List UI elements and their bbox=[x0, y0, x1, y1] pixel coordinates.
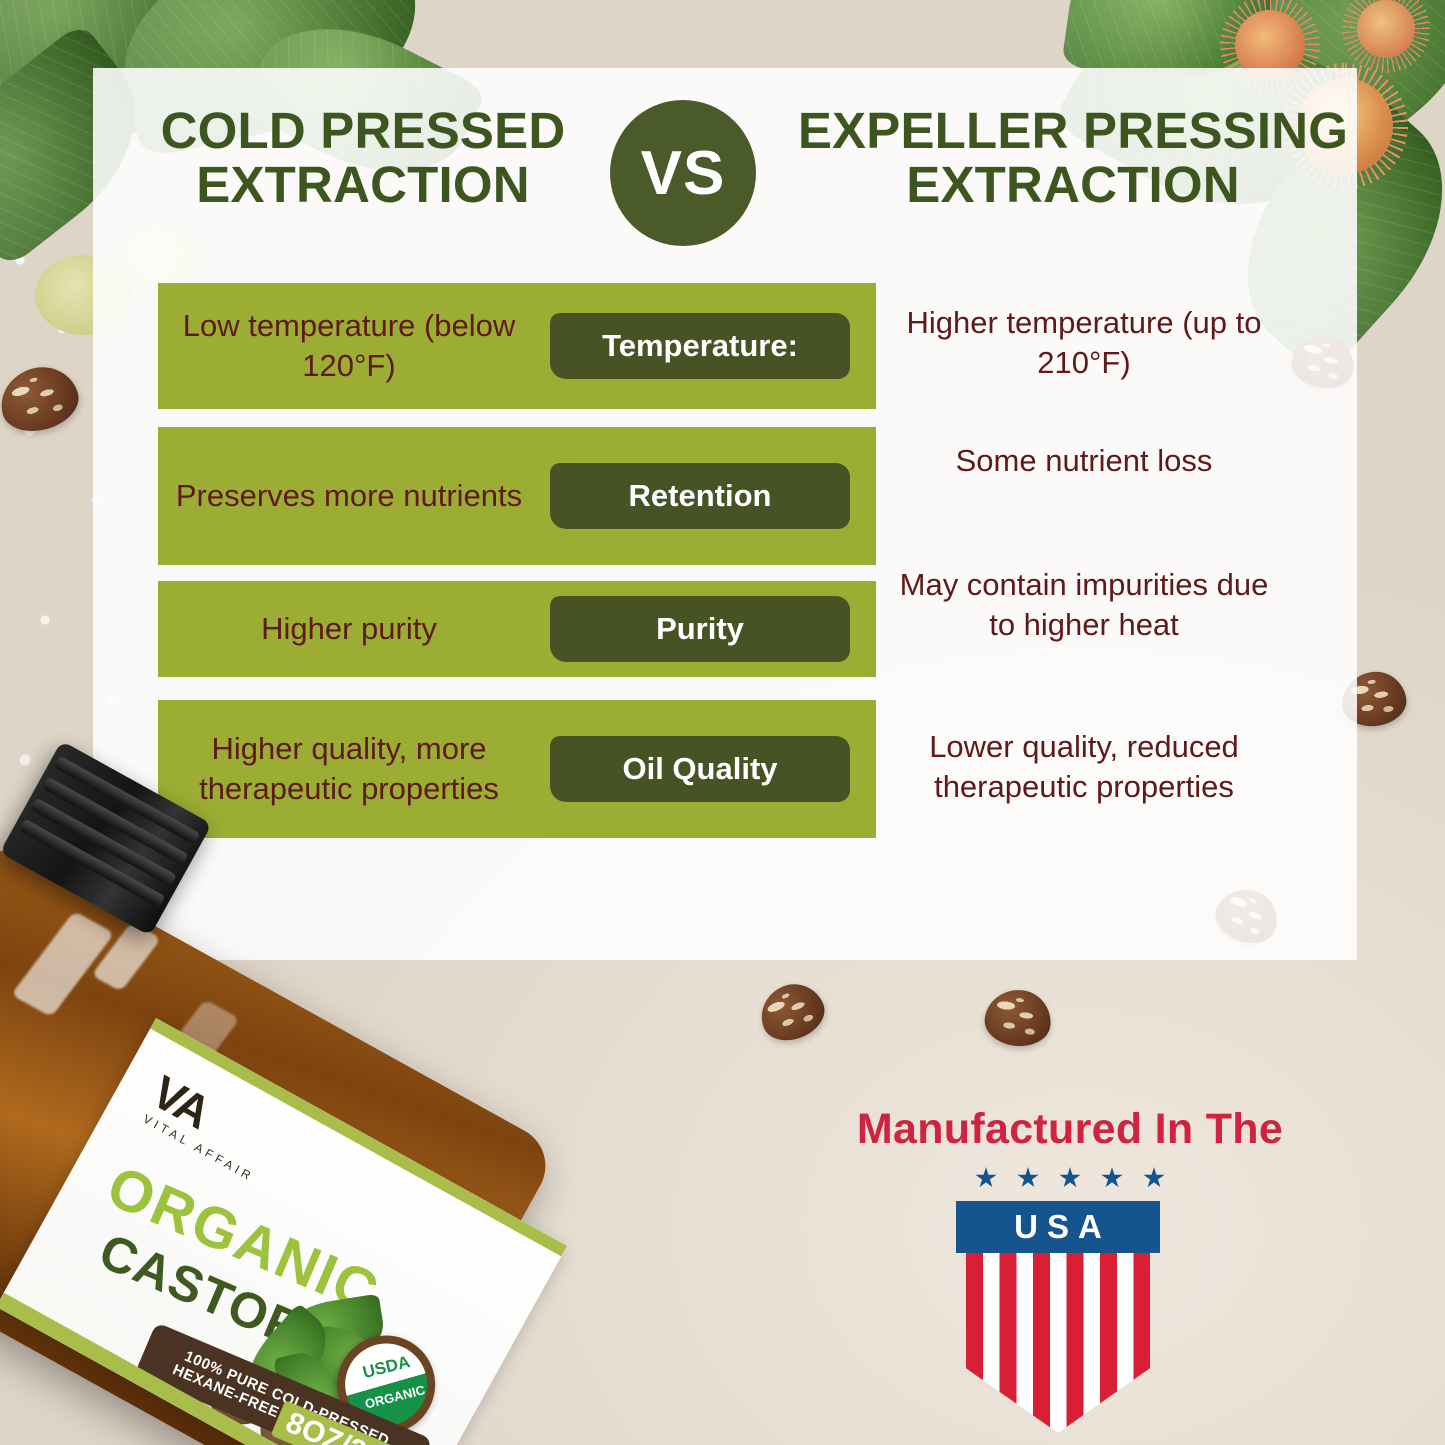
usda-seal-top-text: USDA bbox=[361, 1352, 413, 1383]
attribute-label-retention: Retention bbox=[550, 463, 850, 529]
star-icon bbox=[1017, 1167, 1039, 1189]
cold-pressed-cell: Low temperature (below 120°F) bbox=[158, 306, 540, 385]
attribute-label-text: Temperature: bbox=[602, 328, 798, 364]
made-in-usa-badge: Manufactured In The USA bbox=[820, 1105, 1320, 1435]
expeller-cell: Lower quality, reduced therapeutic prope… bbox=[885, 727, 1283, 806]
attribute-label-temperature: Temperature: bbox=[550, 313, 850, 379]
manufactured-headline: Manufactured In The bbox=[820, 1105, 1320, 1154]
usa-banner: USA bbox=[956, 1201, 1160, 1253]
table-row: Low temperature (below 120°F) Temperatur… bbox=[158, 283, 876, 409]
star-icon bbox=[975, 1167, 997, 1189]
star-icon bbox=[1059, 1167, 1081, 1189]
table-row: Higher purity Purity bbox=[158, 581, 876, 677]
cold-pressed-cell: Preserves more nutrients bbox=[158, 476, 540, 516]
flag-shield-icon bbox=[966, 1253, 1150, 1433]
infographic-canvas: COLD PRESSED EXTRACTION VS EXPELLER PRES… bbox=[0, 0, 1445, 1445]
star-icon bbox=[1101, 1167, 1123, 1189]
attribute-label-text: Retention bbox=[629, 478, 772, 514]
attribute-label-purity: Purity bbox=[550, 596, 850, 662]
attribute-label-text: Oil Quality bbox=[622, 751, 777, 787]
cold-pressed-cell: Higher purity bbox=[158, 609, 540, 649]
usa-label: USA bbox=[1005, 1208, 1111, 1246]
usda-seal-bottom-text: ORGANIC bbox=[363, 1382, 426, 1411]
attribute-label-text: Purity bbox=[656, 611, 744, 647]
expeller-cell: Higher temperature (up to 210°F) bbox=[885, 303, 1283, 382]
star-row bbox=[820, 1167, 1320, 1189]
table-row: Preserves more nutrients Retention bbox=[158, 427, 876, 565]
expeller-cell: Some nutrient loss bbox=[885, 441, 1283, 481]
product-bottle: VA VITAL AFFAIR ORGANIC CASTOR OIL USDA … bbox=[0, 760, 770, 1445]
expeller-cell: May contain impurities due to higher hea… bbox=[885, 565, 1283, 644]
star-icon bbox=[1143, 1167, 1165, 1189]
